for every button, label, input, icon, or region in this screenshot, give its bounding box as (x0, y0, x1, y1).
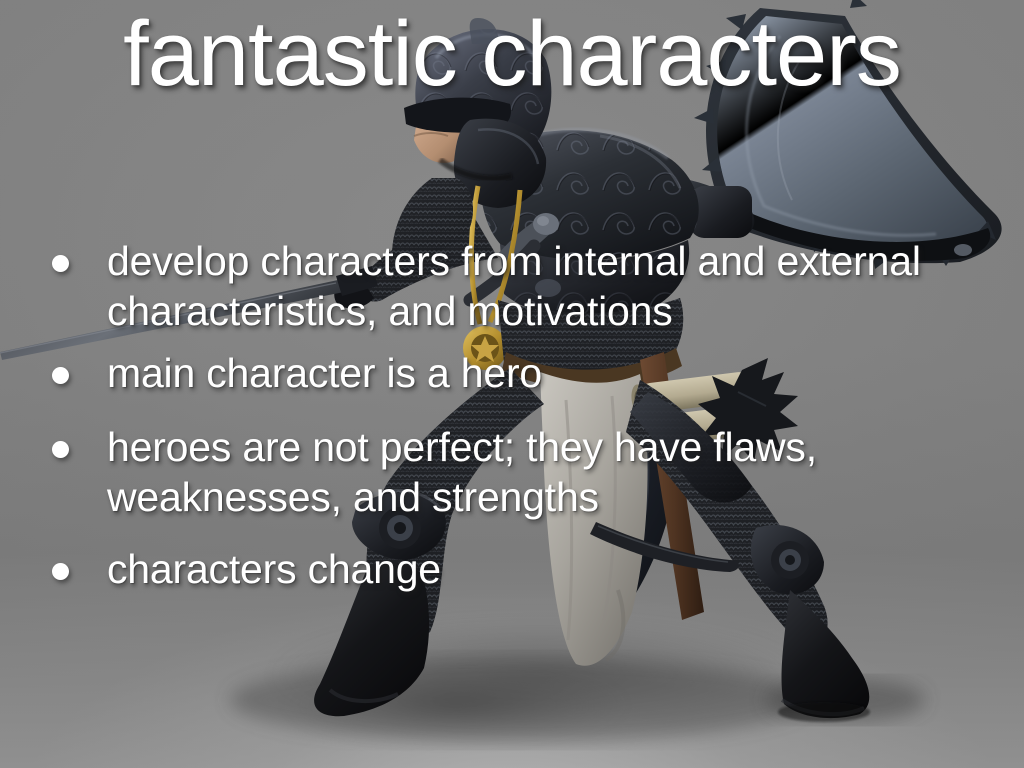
list-item: heroes are not perfect; they have flaws,… (52, 422, 952, 522)
bullet-list: develop characters from internal and ext… (52, 236, 952, 610)
presentation-slide: fantastic characters develop characters … (0, 0, 1024, 768)
floor-shadow-core (240, 660, 670, 750)
bullet-point-icon (52, 367, 69, 384)
list-item: main character is a hero (52, 348, 952, 398)
list-item: develop characters from internal and ext… (52, 236, 952, 336)
bullet-text: characters change (107, 544, 441, 594)
bullet-text: develop characters from internal and ext… (107, 236, 922, 336)
bullet-text: heroes are not perfect; they have flaws,… (107, 422, 922, 522)
bullet-point-icon (52, 255, 69, 272)
bullet-point-icon (52, 441, 69, 458)
bullet-point-icon (52, 563, 69, 580)
slide-title: fantastic characters (0, 6, 1024, 103)
list-item: characters change (52, 544, 952, 594)
bullet-text: main character is a hero (107, 348, 542, 398)
